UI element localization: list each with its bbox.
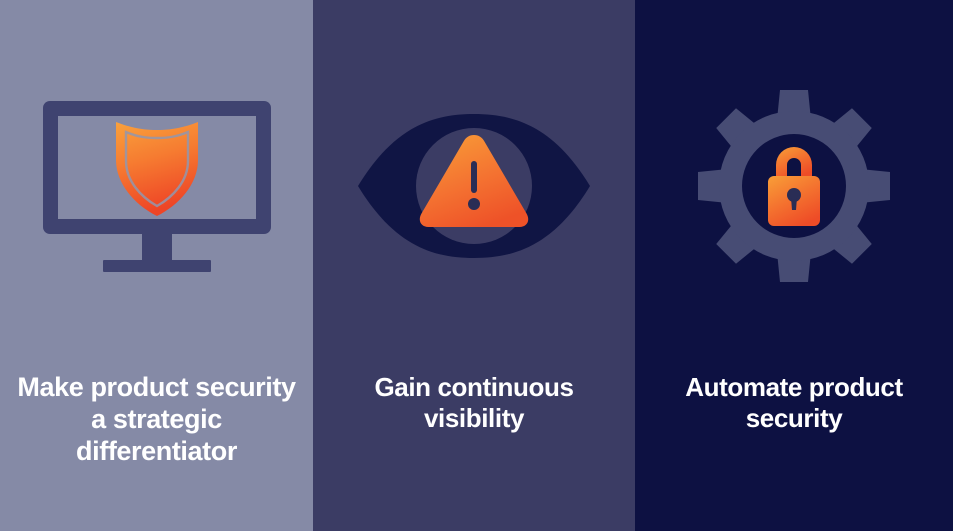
monitor-shield-icon	[41, 99, 273, 274]
panel-caption: Automate product security	[635, 372, 953, 433]
panel-strategic-differentiator[interactable]: Make product security a strategic differ…	[0, 0, 313, 531]
panel-caption: Gain continuous visibility	[313, 372, 635, 433]
gear-lock-icon	[694, 86, 894, 286]
panel-continuous-visibility[interactable]: Gain continuous visibility	[313, 0, 635, 531]
eye-warning-icon-area	[313, 0, 635, 372]
gear-lock-icon-area	[635, 0, 953, 372]
monitor-shield-icon-area	[0, 0, 313, 372]
eye-warning-icon	[355, 111, 593, 261]
panel-automate-security[interactable]: Automate product security	[635, 0, 953, 531]
feature-panel-board: Make product security a strategic differ…	[0, 0, 953, 531]
panel-caption: Make product security a strategic differ…	[0, 372, 313, 468]
